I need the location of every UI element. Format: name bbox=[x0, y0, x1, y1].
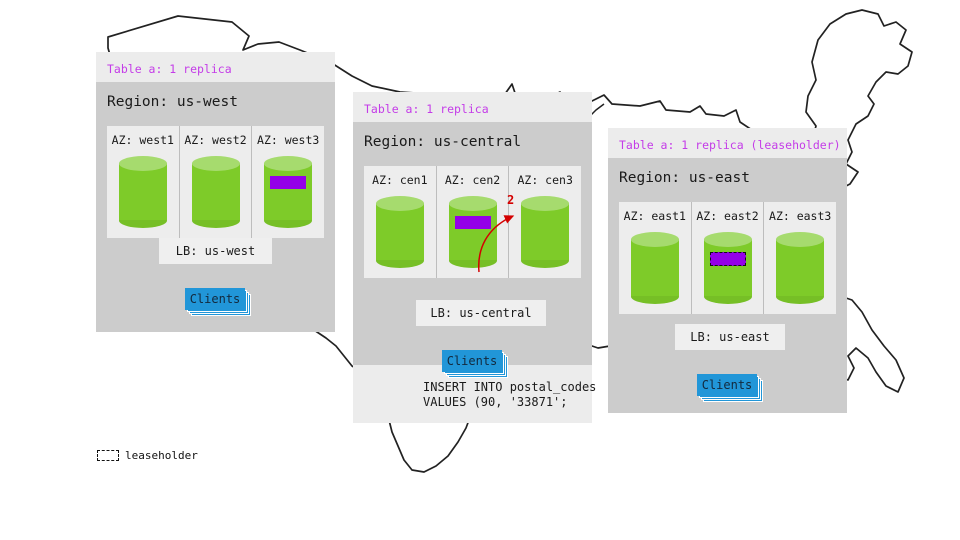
az-label: AZ: west2 bbox=[180, 133, 252, 147]
az-label: AZ: west1 bbox=[107, 133, 179, 147]
load-balancer-label: LB: us-central bbox=[430, 306, 531, 320]
region-panel-us-east[interactable]: Table a: 1 replica (leaseholder) Region:… bbox=[608, 128, 847, 413]
cylinder-top bbox=[192, 156, 240, 171]
diagram-canvas: Table a: 1 replica Region: us-west AZ: w… bbox=[0, 0, 960, 540]
clients-stack-us-west[interactable]: Clients bbox=[185, 288, 247, 312]
az-label: AZ: cen1 bbox=[364, 173, 436, 187]
cylinder-body bbox=[704, 239, 752, 296]
cylinder-top bbox=[704, 232, 752, 247]
clients-label: Clients bbox=[702, 378, 753, 392]
cylinder-body bbox=[449, 203, 497, 260]
leaseholder-marker bbox=[710, 252, 746, 266]
load-balancer-label: LB: us-east bbox=[690, 330, 769, 344]
node-cylinder[interactable] bbox=[119, 156, 167, 228]
az-cell-cen2[interactable]: AZ: cen2 bbox=[436, 166, 509, 278]
az-label: AZ: cen3 bbox=[509, 173, 581, 187]
region-name-label: Region: us-central bbox=[364, 134, 521, 150]
az-label: AZ: west3 bbox=[252, 133, 324, 147]
node-cylinder[interactable] bbox=[631, 232, 679, 304]
cylinder-top bbox=[119, 156, 167, 171]
load-balancer-us-west[interactable]: LB: us-west bbox=[159, 238, 272, 264]
cylinder-body bbox=[119, 163, 167, 220]
clients-stack-us-east[interactable]: Clients bbox=[697, 374, 759, 398]
clients-button[interactable]: Clients bbox=[442, 350, 502, 372]
node-cylinder[interactable] bbox=[264, 156, 312, 228]
node-cylinder[interactable] bbox=[192, 156, 240, 228]
node-cylinder[interactable] bbox=[376, 196, 424, 268]
replica-marker bbox=[270, 176, 306, 189]
node-cylinder[interactable] bbox=[776, 232, 824, 304]
clients-label: Clients bbox=[447, 354, 498, 368]
region-panel-title: Table a: 1 replica bbox=[107, 62, 232, 76]
cylinder-body bbox=[192, 163, 240, 220]
az-cell-west1[interactable]: AZ: west1 bbox=[107, 126, 179, 238]
az-cell-cen1[interactable]: AZ: cen1 bbox=[364, 166, 436, 278]
region-body-us-east: Region: us-east AZ: east1 AZ: east2 bbox=[608, 158, 847, 413]
node-cylinder[interactable] bbox=[704, 232, 752, 304]
az-label: AZ: east1 bbox=[619, 209, 691, 223]
cylinder-body bbox=[776, 239, 824, 296]
leaseholder-swatch-icon bbox=[97, 450, 119, 461]
clients-label: Clients bbox=[190, 292, 241, 306]
replica-marker bbox=[455, 216, 491, 229]
region-panel-us-central[interactable]: Table a: 1 replica Region: us-central AZ… bbox=[353, 92, 592, 423]
region-body-us-west: Region: us-west AZ: west1 AZ: west2 bbox=[96, 82, 335, 332]
load-balancer-us-central[interactable]: LB: us-central bbox=[416, 300, 546, 326]
cylinder-top bbox=[521, 196, 569, 211]
arrow-step-number: 2 bbox=[507, 193, 514, 207]
az-cell-east2[interactable]: AZ: east2 bbox=[691, 202, 764, 314]
load-balancer-label: LB: us-west bbox=[176, 244, 255, 258]
load-balancer-us-east[interactable]: LB: us-east bbox=[675, 324, 785, 350]
az-label: AZ: east3 bbox=[764, 209, 836, 223]
az-cell-cen3[interactable]: AZ: cen3 bbox=[508, 166, 581, 278]
legend: leaseholder bbox=[97, 449, 198, 462]
region-body-us-central: Region: us-central AZ: cen1 AZ: cen2 bbox=[353, 122, 592, 365]
cylinder-body bbox=[631, 239, 679, 296]
region-panel-title: Table a: 1 replica bbox=[364, 102, 489, 116]
cylinder-body bbox=[521, 203, 569, 260]
cylinder-top bbox=[449, 196, 497, 211]
az-label: AZ: east2 bbox=[692, 209, 764, 223]
az-label: AZ: cen2 bbox=[437, 173, 509, 187]
sql-statement: INSERT INTO postal_codes VALUES (90, '33… bbox=[423, 380, 596, 410]
cylinder-top bbox=[376, 196, 424, 211]
az-strip-us-central: AZ: cen1 AZ: cen2 bbox=[364, 166, 581, 278]
region-panel-us-west[interactable]: Table a: 1 replica Region: us-west AZ: w… bbox=[96, 52, 335, 332]
node-cylinder[interactable] bbox=[449, 196, 497, 268]
az-strip-us-west: AZ: west1 AZ: west2 AZ bbox=[107, 126, 324, 238]
region-name-label: Region: us-west bbox=[107, 94, 238, 110]
node-cylinder[interactable] bbox=[521, 196, 569, 268]
az-cell-east1[interactable]: AZ: east1 bbox=[619, 202, 691, 314]
clients-button[interactable]: Clients bbox=[185, 288, 245, 310]
legend-label: leaseholder bbox=[125, 449, 198, 462]
az-cell-east3[interactable]: AZ: east3 bbox=[763, 202, 836, 314]
az-strip-us-east: AZ: east1 AZ: east2 bbox=[619, 202, 836, 314]
az-cell-west2[interactable]: AZ: west2 bbox=[179, 126, 252, 238]
region-name-label: Region: us-east bbox=[619, 170, 750, 186]
az-cell-west3[interactable]: AZ: west3 bbox=[251, 126, 324, 238]
cylinder-body bbox=[376, 203, 424, 260]
clients-button[interactable]: Clients bbox=[697, 374, 757, 396]
region-panel-title: Table a: 1 replica (leaseholder) bbox=[619, 138, 841, 152]
cylinder-top bbox=[776, 232, 824, 247]
cylinder-top bbox=[631, 232, 679, 247]
clients-stack-us-central[interactable]: Clients bbox=[442, 350, 504, 374]
cylinder-top bbox=[264, 156, 312, 171]
cylinder-body bbox=[264, 163, 312, 220]
